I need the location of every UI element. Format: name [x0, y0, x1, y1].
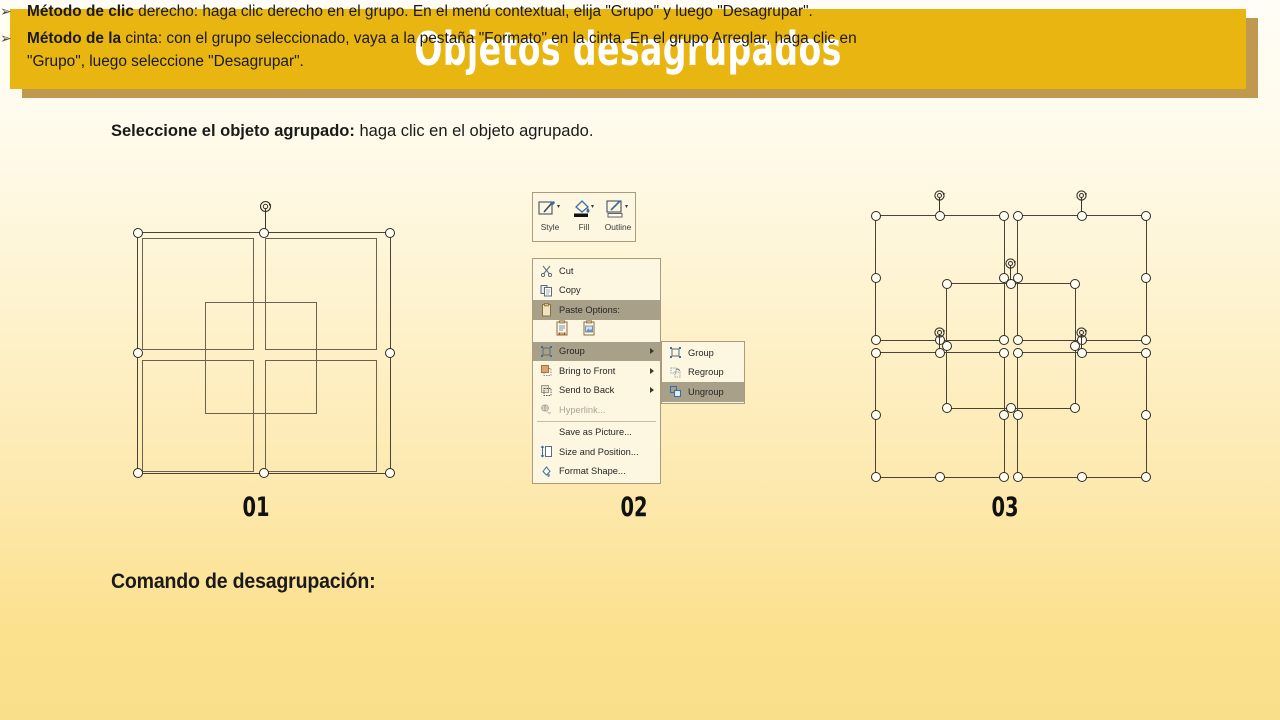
instructions-list: ➢ Método de clic derecho: haga clic dere…: [0, 0, 900, 74]
scissors-icon: [537, 263, 555, 279]
list-item: ➢ Método de la cinta: con el grupo selec…: [0, 27, 900, 74]
handle-nw[interactable]: [871, 348, 881, 358]
group-icon: [537, 343, 555, 359]
bullet-arrow-icon: ➢: [0, 0, 12, 24]
paste-options-row[interactable]: [533, 320, 660, 342]
mini-toolbar-fill-button[interactable]: Fill: [567, 197, 601, 232]
intro-instruction: Seleccione el objeto agrupado: haga clic…: [111, 120, 1171, 142]
hyperlink-icon: [537, 402, 555, 418]
section-heading: Comando de desagrupación:: [111, 570, 375, 594]
handle-w[interactable]: [133, 348, 143, 358]
context-menu-item-group[interactable]: Group: [533, 342, 660, 362]
context-menu-item-send-to-back[interactable]: Send to Back: [533, 381, 660, 401]
rotation-handle-icon[interactable]: [1004, 257, 1017, 270]
handle-s[interactable]: [259, 468, 269, 478]
paste-picture-icon[interactable]: [582, 320, 597, 342]
rotation-handle-icon[interactable]: [933, 189, 946, 202]
handle-sw[interactable]: [1013, 472, 1023, 482]
context-menu[interactable]: Cut Copy Paste Options:: [532, 258, 661, 484]
group-icon: [666, 345, 684, 361]
submenu-item-regroup[interactable]: Regroup: [662, 363, 744, 383]
handle-n[interactable]: [1077, 211, 1087, 221]
handle-e[interactable]: [1070, 341, 1080, 351]
context-menu-item-save-as-picture[interactable]: Save as Picture...: [533, 423, 660, 443]
rotation-handle-icon[interactable]: [933, 326, 946, 339]
context-menu-label-group: Group: [555, 346, 585, 356]
mini-toolbar-outline-button[interactable]: Outline: [601, 197, 635, 232]
context-menu-label-save-as-picture: Save as Picture...: [555, 427, 632, 437]
context-menu-label-copy: Copy: [555, 285, 581, 295]
handle-ne[interactable]: [999, 211, 1009, 221]
rotation-handle-icon[interactable]: [259, 200, 272, 213]
selection-box-center: [946, 283, 1076, 409]
handle-s[interactable]: [1077, 472, 1087, 482]
handle-se[interactable]: [999, 472, 1009, 482]
context-menu-item-cut[interactable]: Cut: [533, 261, 660, 281]
handle-se[interactable]: [385, 468, 395, 478]
ungroup-icon: [666, 384, 684, 400]
submenu-label-regroup: Regroup: [684, 367, 724, 377]
submenu-arrow-icon: [650, 368, 654, 374]
handle-nw[interactable]: [942, 279, 952, 289]
handle-n[interactable]: [1006, 279, 1016, 289]
mini-toolbar-fill-label: Fill: [579, 222, 590, 232]
context-menu-label-send-to-back: Send to Back: [555, 385, 614, 395]
handle-s[interactable]: [935, 472, 945, 482]
handle-se[interactable]: [1141, 335, 1151, 345]
submenu-arrow-icon: [650, 348, 654, 354]
bullet-bold-label: Método de clic: [27, 3, 134, 20]
clipboard-icon: [537, 302, 555, 318]
bring-to-front-icon: [537, 363, 555, 379]
context-menu-item-bring-to-front[interactable]: Bring to Front: [533, 361, 660, 381]
handle-ne[interactable]: [1141, 348, 1151, 358]
bullet-bold-label: Método de la: [27, 30, 121, 47]
rotation-handle-icon[interactable]: [1075, 189, 1088, 202]
shape-center[interactable]: [205, 302, 317, 414]
handle-sw[interactable]: [133, 468, 143, 478]
handle-n[interactable]: [935, 211, 945, 221]
diagram-grouped-object: [120, 190, 410, 490]
handle-se[interactable]: [1070, 403, 1080, 413]
bullet-text: cinta: con el grupo seleccionado, vaya a…: [27, 30, 857, 71]
handle-nw[interactable]: [871, 211, 881, 221]
context-menu-label-bring-to-front: Bring to Front: [555, 366, 615, 376]
handle-nw[interactable]: [1013, 211, 1023, 221]
handle-e[interactable]: [385, 348, 395, 358]
mini-toolbar-style-label: Style: [541, 222, 560, 232]
submenu-label-ungroup: Ungroup: [684, 387, 724, 397]
handle-e[interactable]: [1141, 410, 1151, 420]
handle-ne[interactable]: [1141, 211, 1151, 221]
context-menu-label-hyperlink: Hyperlink...: [555, 405, 606, 415]
step-caption-01: 01: [224, 492, 288, 523]
handle-n[interactable]: [259, 228, 269, 238]
handle-w[interactable]: [871, 273, 881, 283]
paste-keep-text-icon[interactable]: [555, 320, 570, 342]
handle-ne[interactable]: [385, 228, 395, 238]
context-menu-item-hyperlink: Hyperlink...: [533, 400, 660, 420]
mini-toolbar-outline-label: Outline: [605, 222, 632, 232]
handle-ne[interactable]: [1070, 279, 1080, 289]
handle-w[interactable]: [942, 341, 952, 351]
handle-nw[interactable]: [133, 228, 143, 238]
rotation-handle-icon[interactable]: [1075, 326, 1088, 339]
handle-sw[interactable]: [942, 403, 952, 413]
handle-s[interactable]: [1006, 403, 1016, 413]
handle-sw[interactable]: [871, 472, 881, 482]
submenu-arrow-icon: [650, 387, 654, 393]
context-menu-label-format-shape: Format Shape...: [555, 466, 626, 476]
list-item: ➢ Método de clic derecho: haga clic dere…: [0, 0, 900, 24]
step-caption-02: 02: [602, 492, 666, 523]
handle-se[interactable]: [1141, 472, 1151, 482]
bullet-arrow-icon: ➢: [0, 27, 12, 51]
context-submenu-group[interactable]: Group Regroup Ungroup: [661, 341, 745, 404]
handle-w[interactable]: [871, 410, 881, 420]
format-shape-icon: [537, 463, 555, 479]
context-menu-label-size-and-position: Size and Position...: [555, 447, 639, 457]
context-menu-label-cut: Cut: [555, 266, 573, 276]
copy-icon: [537, 282, 555, 298]
intro-rest-label: haga clic en el objeto agrupado.: [355, 122, 594, 140]
paint-bucket-icon: [571, 197, 597, 221]
submenu-item-group[interactable]: Group: [662, 343, 744, 363]
submenu-item-ungroup[interactable]: Ungroup: [662, 382, 744, 402]
slide-canvas: Objetos desagrupados Seleccione el objet…: [0, 0, 1280, 720]
pencil-outline-icon: [605, 197, 631, 221]
no-icon-placeholder: [537, 424, 555, 440]
context-menu-item-paste-options[interactable]: Paste Options:: [533, 300, 660, 320]
context-menu-label-paste-options: Paste Options:: [555, 305, 620, 315]
mini-toolbar[interactable]: Style Fill: [532, 192, 636, 242]
handle-e[interactable]: [1141, 273, 1151, 283]
send-to-back-icon: [537, 382, 555, 398]
submenu-label-group: Group: [684, 348, 714, 358]
context-menu-item-format-shape[interactable]: Format Shape...: [533, 462, 660, 482]
brush-icon: [537, 197, 563, 221]
context-menu-item-copy[interactable]: Copy: [533, 281, 660, 301]
context-menu-separator: [537, 421, 656, 422]
context-menu-item-size-and-position[interactable]: Size and Position...: [533, 442, 660, 462]
step-caption-03: 03: [973, 492, 1037, 523]
regroup-icon: [666, 364, 684, 380]
intro-bold-label: Seleccione el objeto agrupado:: [111, 122, 355, 140]
bullet-text: derecho: haga clic derecho en el grupo. …: [134, 3, 813, 20]
diagram-ungrouped-objects: [860, 185, 1160, 490]
size-position-icon: [537, 444, 555, 460]
handle-sw[interactable]: [871, 335, 881, 345]
mini-toolbar-style-button[interactable]: Style: [533, 197, 567, 232]
